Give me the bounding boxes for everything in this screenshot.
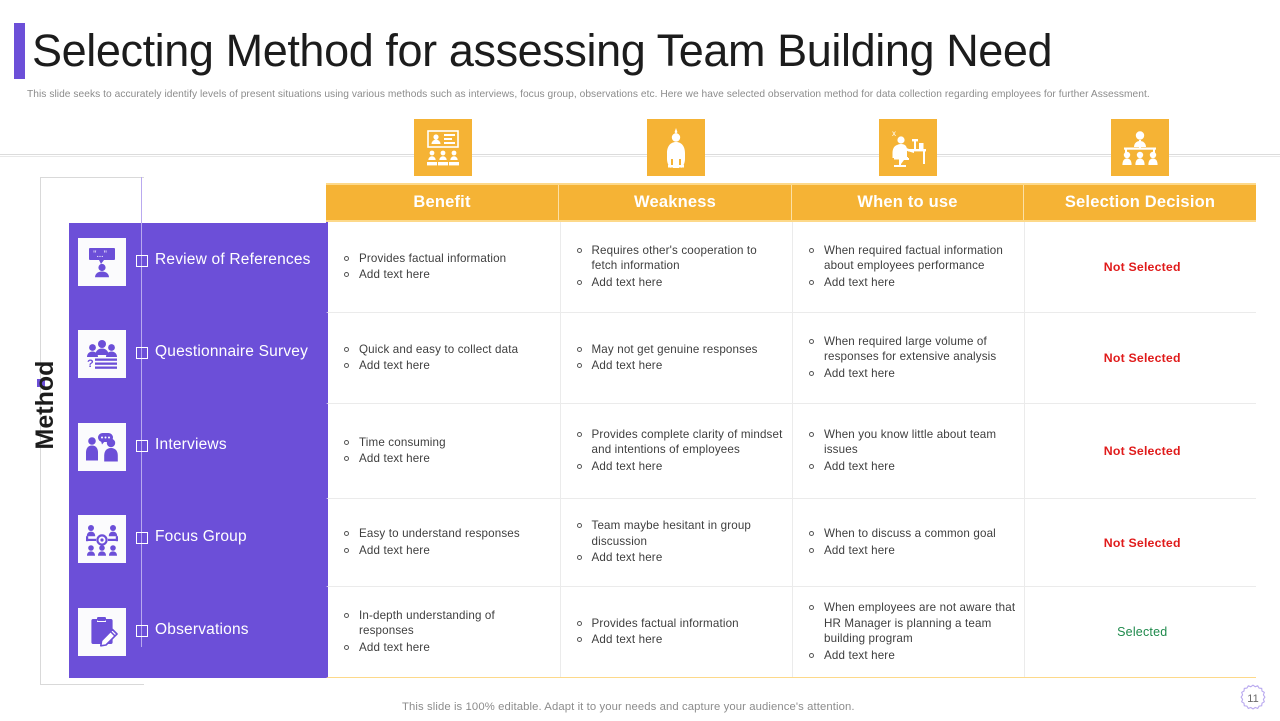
bullet-list: Provides factual informationAdd text her… <box>340 251 552 284</box>
bullet-item: Add text here <box>805 275 1016 291</box>
bullet-item: When employees are not aware that HR Man… <box>805 600 1016 647</box>
cell-when-to-use: When employees are not aware that HR Man… <box>793 587 1025 677</box>
bullet-item: Add text here <box>573 632 785 648</box>
bullet-list: When required large volume of responses … <box>805 334 1016 383</box>
page-subtitle: This slide seeks to accurately identify … <box>27 88 1247 102</box>
interview-chat-icon <box>78 423 126 471</box>
method-checkbox[interactable] <box>136 255 148 267</box>
page-number-badge: 11 <box>1236 682 1270 716</box>
bullet-item: Add text here <box>805 543 1016 559</box>
bullet-item: Requires other's cooperation to fetch in… <box>573 243 785 274</box>
table-row: Provides factual informationAdd text her… <box>326 222 1256 313</box>
method-label: Review of References <box>155 251 311 269</box>
cell-benefit: In-depth understanding of responsesAdd t… <box>328 587 561 677</box>
desk-worker-icon: x <box>879 119 937 176</box>
bullet-item: Provides factual information <box>573 616 785 632</box>
decision-badge: Not Selected <box>1037 351 1249 365</box>
page-number: 11 <box>1236 682 1270 716</box>
method-checkbox[interactable] <box>136 625 148 637</box>
top-divider-rule <box>0 154 1280 157</box>
method-label: Questionnaire Survey <box>155 343 308 361</box>
bullet-item: Add text here <box>573 459 785 475</box>
bullet-item: Add text here <box>340 451 552 467</box>
method-checkbox[interactable] <box>136 532 148 544</box>
bullet-list: Requires other's cooperation to fetch in… <box>573 243 785 292</box>
method-label: Interviews <box>155 436 227 454</box>
bullet-list: May not get genuine responsesAdd text he… <box>573 342 785 375</box>
method-checkbox[interactable] <box>136 347 148 359</box>
bullet-item: Add text here <box>805 366 1016 382</box>
bullet-item: Add text here <box>340 358 552 374</box>
decision-badge: Not Selected <box>1037 260 1249 274</box>
decision-badge: Not Selected <box>1037 444 1249 458</box>
cell-benefit: Easy to understand responsesAdd text her… <box>328 499 561 586</box>
bullet-item: Add text here <box>573 550 785 566</box>
method-checkbox[interactable] <box>136 440 148 452</box>
cell-weakness: Requires other's cooperation to fetch in… <box>561 222 794 312</box>
table-row: Time consumingAdd text hereProvides comp… <box>326 404 1256 499</box>
method-label: Observations <box>155 621 249 639</box>
svg-text:?: ? <box>87 358 94 370</box>
method-axis-label: Method <box>31 355 60 455</box>
bullet-item: Add text here <box>340 543 552 559</box>
bullet-item: Easy to understand responses <box>340 526 552 542</box>
table-row: Easy to understand responsesAdd text her… <box>326 499 1256 587</box>
bullet-list: When required factual information about … <box>805 243 1016 292</box>
bullet-list: Provides factual informationAdd text her… <box>573 616 785 649</box>
cell-selection-decision: Not Selected <box>1025 404 1257 498</box>
table-header-cell-4: Selection Decision <box>1024 185 1256 220</box>
bullet-list: In-depth understanding of responsesAdd t… <box>340 608 552 657</box>
cell-when-to-use: When required factual information about … <box>793 222 1025 312</box>
speech-bubble-person-icon: "..." <box>78 238 126 286</box>
bullet-item: May not get genuine responses <box>573 342 785 358</box>
method-label: Focus Group <box>155 528 247 546</box>
bullet-item: Quick and easy to collect data <box>340 342 552 358</box>
bullet-item: When required factual information about … <box>805 243 1016 274</box>
table-header-row: BenefitWeaknessWhen to useSelection Deci… <box>326 183 1256 222</box>
bullet-item: Add text here <box>573 275 785 291</box>
cell-selection-decision: Selected <box>1025 587 1257 677</box>
person-standing-icon <box>647 119 705 176</box>
bullet-list: When you know little about team issuesAd… <box>805 427 1016 476</box>
page-title: Selecting Method for assessing Team Buil… <box>32 21 1052 81</box>
cell-weakness: May not get genuine responsesAdd text he… <box>561 313 794 403</box>
cell-when-to-use: When required large volume of responses … <box>793 313 1025 403</box>
bullet-item: When you know little about team issues <box>805 427 1016 458</box>
method-item-5[interactable]: Observations <box>69 608 326 670</box>
table-body: Provides factual informationAdd text her… <box>326 222 1256 678</box>
svg-text:x: x <box>892 129 896 138</box>
bullet-item: Provides factual information <box>340 251 552 267</box>
cell-when-to-use: When to discuss a common goalAdd text he… <box>793 499 1025 586</box>
bullet-item: Add text here <box>340 640 552 656</box>
comparison-table: BenefitWeaknessWhen to useSelection Deci… <box>326 183 1256 678</box>
cell-weakness: Provides factual informationAdd text her… <box>561 587 794 677</box>
table-row: In-depth understanding of responsesAdd t… <box>326 587 1256 678</box>
bullet-list: When to discuss a common goalAdd text he… <box>805 526 1016 559</box>
cell-benefit: Provides factual informationAdd text her… <box>328 222 561 312</box>
table-header-cell-1: Benefit <box>326 185 559 220</box>
cell-weakness: Team maybe hesitant in group discussionA… <box>561 499 794 586</box>
bullet-list: Provides complete clarity of mindset and… <box>573 427 785 476</box>
table-header-cell-3: When to use <box>792 185 1024 220</box>
decision-badge: Not Selected <box>1037 536 1249 550</box>
bullet-item: Add text here <box>340 267 552 283</box>
survey-people-icon: ? <box>78 330 126 378</box>
bullet-item: Team maybe hesitant in group discussion <box>573 518 785 549</box>
table-row: Quick and easy to collect dataAdd text h… <box>326 313 1256 404</box>
method-item-2[interactable]: ? Questionnaire Survey <box>69 330 326 392</box>
cell-weakness: Provides complete clarity of mindset and… <box>561 404 794 498</box>
bullet-item: When required large volume of responses … <box>805 334 1016 365</box>
cell-selection-decision: Not Selected <box>1025 222 1257 312</box>
method-item-3[interactable]: Interviews <box>69 423 326 485</box>
title-accent-bar <box>14 23 25 79</box>
bullet-item: Provides complete clarity of mindset and… <box>573 427 785 458</box>
bullet-list: Easy to understand responsesAdd text her… <box>340 526 552 559</box>
bullet-item: When to discuss a common goal <box>805 526 1016 542</box>
bullet-item: Add text here <box>805 648 1016 664</box>
method-item-4[interactable]: Focus Group <box>69 515 326 577</box>
method-item-1[interactable]: "..." Review of References <box>69 238 326 300</box>
team-group-icon <box>1111 119 1169 176</box>
cell-selection-decision: Not Selected <box>1025 313 1257 403</box>
bullet-list: When employees are not aware that HR Man… <box>805 600 1016 664</box>
bullet-list: Time consumingAdd text here <box>340 435 552 468</box>
bullet-list: Quick and easy to collect dataAdd text h… <box>340 342 552 375</box>
cell-when-to-use: When you know little about team issuesAd… <box>793 404 1025 498</box>
focus-group-icon <box>78 515 126 563</box>
cell-benefit: Time consumingAdd text here <box>328 404 561 498</box>
cell-benefit: Quick and easy to collect dataAdd text h… <box>328 313 561 403</box>
decision-badge: Selected <box>1037 625 1249 639</box>
classroom-training-icon <box>414 119 472 176</box>
bullet-list: Team maybe hesitant in group discussionA… <box>573 518 785 567</box>
svg-text:"...": "..." <box>93 249 107 259</box>
table-header-cell-2: Weakness <box>559 185 792 220</box>
clipboard-pencil-icon <box>78 608 126 656</box>
bullet-item: Add text here <box>805 459 1016 475</box>
bullet-item: In-depth understanding of responses <box>340 608 552 639</box>
footer-note: This slide is 100% editable. Adapt it to… <box>402 701 855 713</box>
cell-selection-decision: Not Selected <box>1025 499 1257 586</box>
bullet-item: Add text here <box>573 358 785 374</box>
bullet-item: Time consuming <box>340 435 552 451</box>
